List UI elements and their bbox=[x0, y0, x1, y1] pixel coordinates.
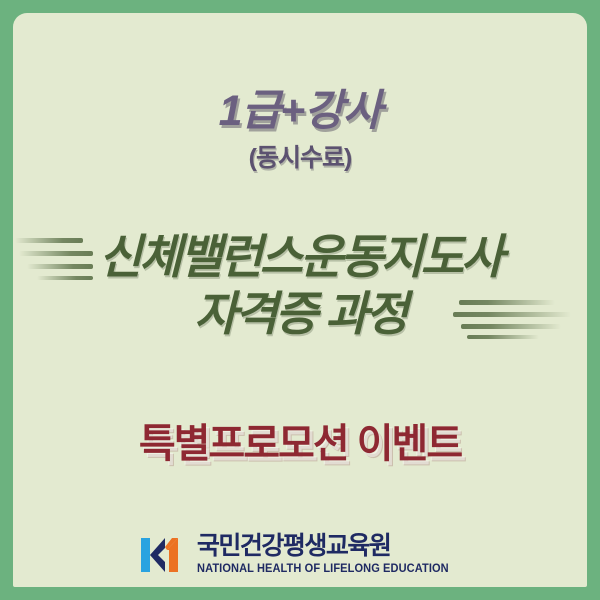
logo-text-group: 국민건강평생교육원 NATIONAL HEALTH OF LIFELONG ED… bbox=[197, 534, 459, 576]
speed-line-icon bbox=[467, 335, 539, 339]
headline-line-2: 자격증 과정 bbox=[13, 275, 587, 344]
logo-name-korean: 국민건강평생교육원 bbox=[197, 534, 391, 559]
logo-name-english: NATIONAL HEALTH OF LIFELONG EDUCATION bbox=[197, 564, 449, 576]
speed-line-icon bbox=[461, 324, 561, 329]
organization-logo: 국민건강평생교육원 NATIONAL HEALTH OF LIFELONG ED… bbox=[13, 534, 587, 576]
grade-subtitle: (동시수료) bbox=[13, 138, 587, 174]
promo-poster: 1급+강사 (동시수료) 신체밸런스운동지도사 자격증 과정 특별프로모션 이벤… bbox=[0, 0, 600, 600]
k-logo-icon bbox=[141, 537, 187, 573]
grade-title: 1급+강사 bbox=[13, 76, 587, 138]
promotion-headline: 특별프로모션 이벤트 bbox=[13, 411, 587, 469]
speed-line-icon bbox=[453, 312, 571, 317]
speed-line-icon bbox=[459, 300, 555, 305]
poster-canvas: 1급+강사 (동시수료) 신체밸런스운동지도사 자격증 과정 특별프로모션 이벤… bbox=[13, 13, 587, 587]
headline-group: 신체밸런스운동지도사 자격증 과정 bbox=[13, 218, 587, 343]
